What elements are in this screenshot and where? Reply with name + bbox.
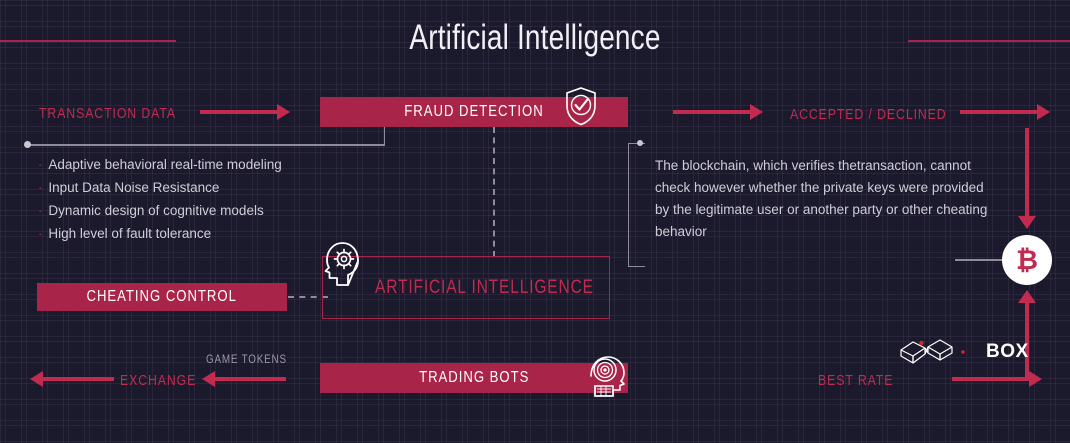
label-game-tokens: GAME TOKENS — [206, 352, 287, 366]
list-item-label: High level of fault tolerance — [48, 225, 211, 242]
arrow-bestrate-to-btc-head — [1018, 290, 1036, 303]
box-logo: BOX — [897, 336, 1029, 368]
arrow-fraud-to-accepted-line — [673, 110, 751, 114]
box-logo-accent-dot — [961, 350, 965, 354]
arrow-accepted-out-line — [960, 110, 1038, 114]
box-logo-dot — [919, 341, 923, 345]
arrow-fraud-to-accepted-head — [750, 104, 763, 120]
label-exchange: EXCHANGE — [120, 372, 196, 389]
node-fraud-detection[interactable]: FRAUD DETECTION — [320, 97, 628, 127]
arrow-transaction-to-fraud-line — [200, 110, 278, 114]
bitcoin-icon: ₿ — [1016, 247, 1038, 274]
bullet-marker-icon: · — [38, 202, 42, 219]
list-item-label: Input Data Noise Resistance — [48, 179, 219, 196]
connector-bullets-vertical — [384, 127, 386, 145]
arrow-bestrate-line — [952, 377, 1030, 381]
label-fraud-detection: FRAUD DETECTION — [404, 103, 543, 121]
paragraph-bracket-dot — [637, 140, 643, 146]
infographic-canvas: Artificial Intelligence TRANSACTION DATA… — [0, 0, 1070, 443]
connector-bullets-dot — [24, 141, 31, 148]
list-item: · Adaptive behavioral real-time modeling — [38, 156, 358, 173]
connector-fraud-to-ai-dashed — [493, 127, 495, 257]
node-bitcoin[interactable]: ₿ — [1002, 235, 1052, 285]
blockchain-description-text: The blockchain, which verifies thetransa… — [655, 155, 997, 243]
label-transaction-data: TRANSACTION DATA — [39, 105, 176, 122]
box-logo-mark — [897, 336, 985, 368]
bullet-marker-icon: · — [38, 179, 42, 196]
bullet-marker-icon: · — [38, 225, 42, 242]
node-trading-bots[interactable]: TRADING BOTS — [320, 363, 628, 393]
arrow-accepted-out-head — [1037, 104, 1050, 120]
arrow-bestrate-head — [1029, 371, 1042, 387]
node-cheating-control[interactable]: CHEATING CONTROL — [37, 283, 287, 311]
list-item-label: Adaptive behavioral real-time modeling — [48, 156, 281, 173]
list-item: · Dynamic design of cognitive models — [38, 202, 358, 219]
paragraph-bracket — [628, 143, 645, 267]
label-cheating-control: CHEATING CONTROL — [87, 288, 237, 306]
arrow-exchange-out-line — [42, 377, 114, 381]
arrow-bots-to-exchange-line — [214, 377, 286, 381]
feature-bullet-list: · Adaptive behavioral real-time modeling… — [38, 156, 358, 248]
page-title: Artificial Intelligence — [107, 18, 963, 58]
label-trading-bots: TRADING BOTS — [419, 369, 529, 387]
box-logo-text: BOX — [986, 341, 1029, 363]
connector-bullets-horizontal — [27, 144, 385, 146]
arrow-accepted-to-btc-line — [1025, 128, 1029, 218]
list-item: · High level of fault tolerance — [38, 225, 358, 242]
arrow-transaction-to-fraud-head — [277, 104, 290, 120]
list-item-label: Dynamic design of cognitive models — [48, 202, 263, 219]
label-artificial-intelligence: ARTIFICIAL INTELLIGENCE — [375, 277, 594, 299]
list-item: · Input Data Noise Resistance — [38, 179, 358, 196]
node-artificial-intelligence[interactable]: ARTIFICIAL INTELLIGENCE — [322, 256, 610, 319]
label-accepted-declined: ACCEPTED / DECLINED — [790, 106, 947, 123]
arrow-accepted-to-btc-head — [1018, 216, 1036, 229]
connector-paragraph-to-btc — [955, 259, 1005, 261]
bullet-marker-icon: · — [38, 156, 42, 173]
label-best-rate: BEST RATE — [818, 372, 893, 389]
